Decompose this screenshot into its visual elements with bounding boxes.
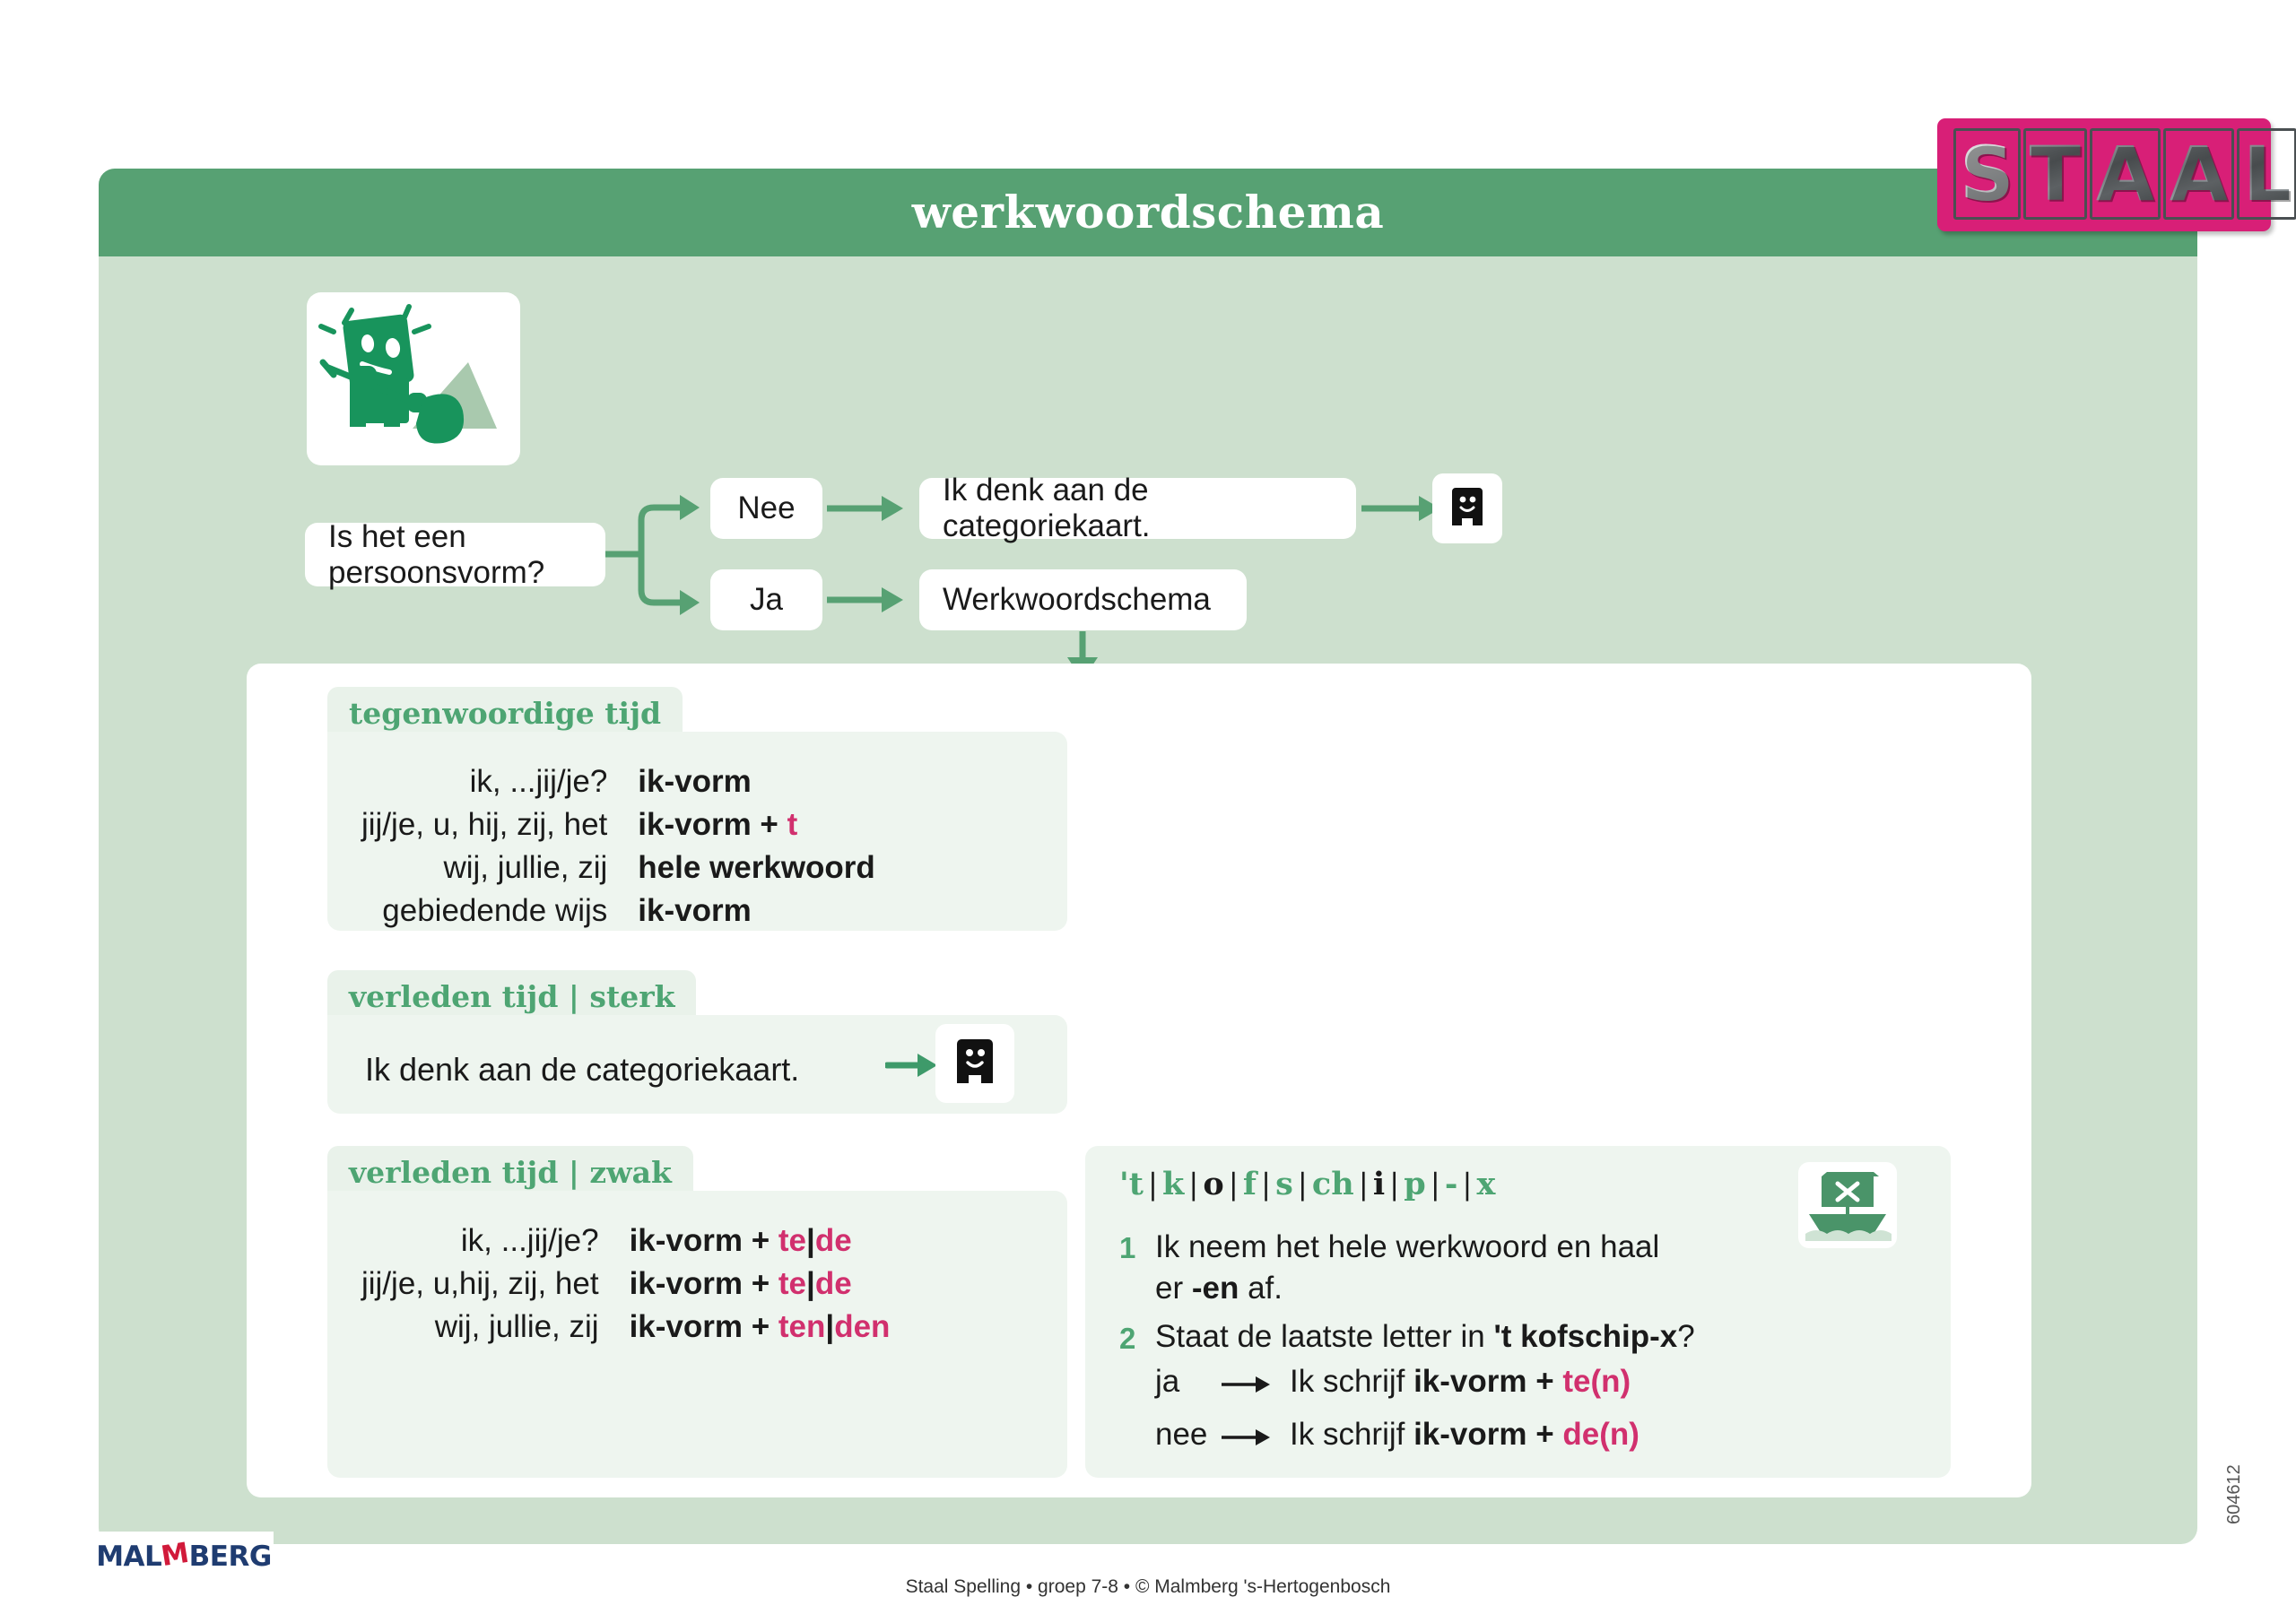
staal-letter-t: T — [2023, 128, 2087, 220]
form-text: ik-vorm + — [630, 1223, 778, 1258]
suffix-accent-2: de — [815, 1223, 852, 1258]
kofschip-mnemonic: 't|k|o|f|s|ch|i|p|-|x — [1119, 1166, 1495, 1202]
kofschip-step2-pre: Staat de laatste letter in — [1155, 1319, 1493, 1354]
form-text: ik-vorm + — [630, 1309, 778, 1344]
suffix-separator: | — [806, 1223, 815, 1258]
kofschip-no-accent: de(n) — [1562, 1417, 1639, 1452]
arrow-right-icon — [885, 1047, 941, 1083]
kofschip-step2: Staat de laatste letter in 't kofschip-x… — [1155, 1316, 1891, 1358]
form-cell: ik-vorm + ten|den — [630, 1306, 891, 1349]
form-cell: ik-vorm — [638, 890, 875, 933]
kofschip-letter-separator: | — [1426, 1167, 1445, 1202]
form-text: ik-vorm — [638, 893, 751, 928]
poster-card: werkwoordschema STAAL — [99, 169, 2197, 1544]
subject-cell: jij/je, u,hij, zij, het — [361, 1263, 630, 1306]
kofschip-letter-separator: | — [1457, 1167, 1476, 1202]
kofschip-letter: ch — [1312, 1166, 1354, 1202]
inner-content-panel: tegenwoordige tijd ik, ...jij/je? ik-vor… — [247, 664, 2031, 1497]
section-title-past-weak: verleden tijd | zwak — [327, 1146, 693, 1195]
suffix-accent: te — [778, 1223, 806, 1258]
kofschip-step2-bold: 't kofschip-x — [1493, 1319, 1677, 1354]
staal-letter-a2: A — [2163, 128, 2234, 220]
malmberg-pre: MAL — [96, 1541, 161, 1573]
credit-line: Staal Spelling • groep 7-8 • © Malmberg … — [0, 1576, 2296, 1598]
page-title: werkwoordschema — [99, 169, 2197, 256]
kofschip-letter: x — [1477, 1166, 1496, 1202]
categoriekaart-card-icon-2 — [935, 1024, 1014, 1103]
subject-cell: wij, jullie, zij — [361, 1306, 630, 1349]
flow-answer-no[interactable]: Nee — [710, 478, 822, 539]
ship-card — [1798, 1162, 1897, 1248]
kofschip-step1-post: af. — [1239, 1271, 1283, 1306]
malmberg-logo: MALMBERG — [94, 1532, 274, 1582]
malmberg-post: BERG — [189, 1541, 272, 1573]
kofschip-letter: o — [1203, 1166, 1223, 1202]
kofschip-letter-separator: | — [1354, 1167, 1373, 1202]
arrow-right-icon-no — [1220, 1425, 1272, 1450]
present-tense-table: ik, ...jij/je? ik-vorm jij/je, u, hij, z… — [361, 760, 875, 933]
suffix-accent-2: de — [815, 1266, 852, 1301]
kofschip-step1: Ik neem het hele werkwoord en haal er -e… — [1155, 1227, 1783, 1309]
kofschip-step1-pre: er — [1155, 1271, 1192, 1306]
form-text: ik-vorm — [638, 764, 751, 799]
kofschip-panel: 't|k|o|f|s|ch|i|p|-|x 1 Ik neem het hele… — [1085, 1146, 1951, 1478]
past-weak-table: ik, ...jij/je? ik-vorm + te|de jij/je, u… — [361, 1219, 890, 1349]
table-row: ik, ...jij/je? ik-vorm — [361, 760, 875, 803]
kofschip-letter-separator: | — [1293, 1167, 1312, 1202]
subject-cell: gebiedende wijs — [361, 890, 638, 933]
kofschip-step1-number: 1 — [1119, 1231, 1135, 1265]
kofschip-yes-label: ja — [1155, 1361, 1179, 1402]
document-code: 604612 — [2224, 1464, 2245, 1524]
kofschip-yes-result: Ik schrijf ik-vorm + te(n) — [1290, 1361, 1631, 1402]
staal-letter-l: L — [2237, 128, 2296, 220]
arrow-right-icon-yes — [1220, 1372, 1272, 1397]
form-text: ik-vorm + — [638, 807, 787, 842]
form-cell: ik-vorm + te|de — [630, 1263, 891, 1306]
table-row: jij/je, u, hij, zij, het ik-vorm + t — [361, 803, 875, 846]
kofschip-step1-bold: -en — [1192, 1271, 1239, 1306]
table-row: jij/je, u,hij, zij, het ik-vorm + te|de — [361, 1263, 890, 1306]
flow-result-werkwoordschema[interactable]: Werkwoordschema — [919, 569, 1247, 630]
staal-letter-s: S — [1953, 128, 2021, 220]
form-text: ik-vorm + — [630, 1266, 778, 1301]
suffix-accent: t — [787, 807, 798, 842]
flow-question-box[interactable]: Is het een persoonsvorm? — [305, 523, 605, 586]
kofschip-no-result: Ik schrijf ik-vorm + de(n) — [1290, 1414, 1639, 1455]
kofschip-step2-post: ? — [1677, 1319, 1694, 1354]
column-divider — [1072, 1191, 1081, 1478]
section-title-past-strong: verleden tijd | sterk — [327, 970, 696, 1020]
kofschip-letter-separator: | — [1184, 1167, 1203, 1202]
malmberg-wordmark: MALMBERG — [96, 1541, 272, 1573]
kofschip-yes-bold: ik-vorm + — [1413, 1364, 1562, 1399]
ship-icon — [1798, 1162, 1897, 1248]
flow-result-categoriekaart[interactable]: Ik denk aan de categoriekaart. — [919, 478, 1356, 539]
table-row: wij, jullie, zij ik-vorm + ten|den — [361, 1306, 890, 1349]
suffix-accent-2: den — [834, 1309, 890, 1344]
kofschip-no-text: Ik schrijf — [1290, 1417, 1413, 1452]
kofschip-letter-separator: | — [1385, 1167, 1404, 1202]
malmberg-m: M — [159, 1537, 191, 1573]
staal-logo-letters: STAAL — [1953, 127, 2258, 221]
form-cell: ik-vorm — [638, 760, 875, 803]
past-strong-text: Ik denk aan de categoriekaart. — [365, 1051, 799, 1089]
robot-digging-icon — [307, 292, 520, 465]
staal-logo: STAAL — [1937, 118, 2271, 231]
kofschip-letter: i — [1373, 1166, 1385, 1202]
kofschip-yes-accent: te(n) — [1562, 1364, 1631, 1399]
form-cell: ik-vorm + te|de — [630, 1219, 891, 1263]
subject-cell: jij/je, u, hij, zij, het — [361, 803, 638, 846]
kofschip-letter: - — [1445, 1166, 1458, 1202]
flow-answer-yes[interactable]: Ja — [710, 569, 822, 630]
suffix-separator: | — [806, 1266, 815, 1301]
kofschip-letter-separator: | — [1144, 1167, 1162, 1202]
form-cell: hele werkwoord — [638, 846, 875, 890]
kofschip-no-label: nee — [1155, 1414, 1207, 1455]
kofschip-letter: f — [1243, 1166, 1257, 1202]
kofschip-letter: p — [1404, 1166, 1425, 1202]
form-cell: ik-vorm + t — [638, 803, 875, 846]
suffix-accent: ten — [778, 1309, 826, 1344]
staal-letter-a1: A — [2090, 128, 2161, 220]
subject-cell: wij, jullie, zij — [361, 846, 638, 890]
suffix-accent: te — [778, 1266, 806, 1301]
kofschip-letter: 't — [1119, 1166, 1144, 1202]
categoriekaart-card-icon — [1432, 473, 1502, 543]
kofschip-step2-number: 2 — [1119, 1322, 1135, 1356]
kofschip-letter: k — [1162, 1166, 1184, 1202]
subject-cell: ik, ...jij/je? — [361, 760, 638, 803]
kofschip-yes-text: Ik schrijf — [1290, 1364, 1413, 1399]
suffix-separator: | — [825, 1309, 834, 1344]
section-title-present: tegenwoordige tijd — [327, 687, 683, 736]
form-text: hele werkwoord — [638, 850, 875, 885]
kofschip-letter-separator: | — [1257, 1167, 1275, 1202]
table-row: gebiedende wijs ik-vorm — [361, 890, 875, 933]
mascot-card — [307, 292, 520, 465]
table-row: ik, ...jij/je? ik-vorm + te|de — [361, 1219, 890, 1263]
kofschip-step1-line1: Ik neem het hele werkwoord en haal — [1155, 1229, 1659, 1264]
subject-cell: ik, ...jij/je? — [361, 1219, 630, 1263]
kofschip-no-bold: ik-vorm + — [1413, 1417, 1562, 1452]
table-row: wij, jullie, zij hele werkwoord — [361, 846, 875, 890]
kofschip-letter: s — [1275, 1166, 1293, 1202]
kofschip-letter-separator: | — [1224, 1167, 1243, 1202]
